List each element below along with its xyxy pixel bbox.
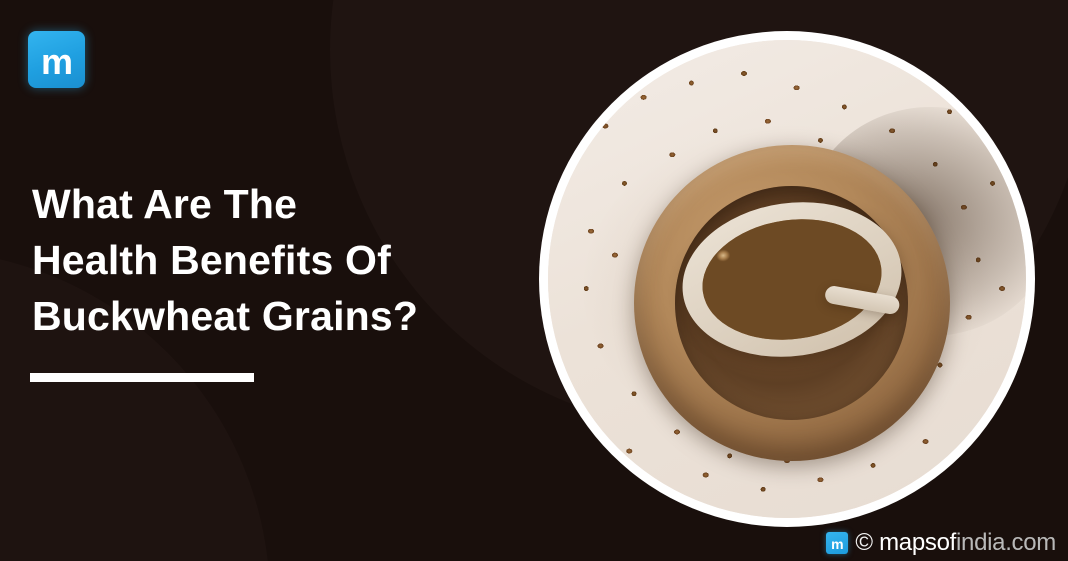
page-title-line-1: What Are The [32, 176, 532, 232]
watermark[interactable]: m © mapsofindia.com [826, 531, 1056, 555]
title-underline-rule [30, 373, 254, 382]
page-title-line-3: Buckwheat Grains? [32, 288, 532, 344]
copyright-symbol: © [855, 529, 879, 556]
spoon-bed [694, 207, 889, 350]
page-title-line-2: Health Benefits Of [32, 232, 532, 288]
brand-logo[interactable]: m [28, 31, 85, 88]
watermark-logo-glyph: m [831, 537, 843, 551]
photo-background [548, 40, 1026, 518]
brand-logo-glyph: m [41, 44, 72, 80]
watermark-site-secondary: india.com [956, 529, 1056, 556]
watermark-logo-icon: m [826, 532, 848, 554]
article-banner: m What Are The Health Benefits Of Buckwh… [0, 0, 1068, 561]
buckwheat-photo [548, 40, 1026, 518]
watermark-text: © mapsofindia.com [855, 531, 1056, 555]
watermark-site-primary: mapsof [879, 529, 956, 556]
page-title: What Are The Health Benefits Of Buckwhea… [32, 176, 532, 344]
